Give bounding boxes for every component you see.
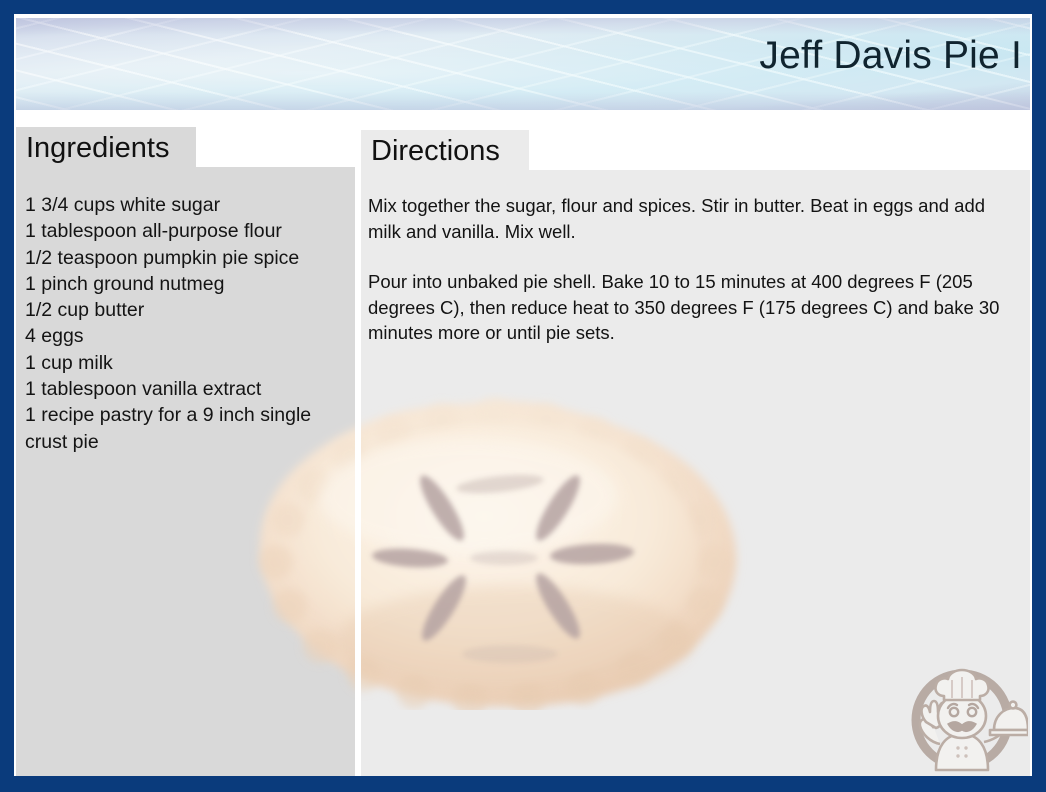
border-bottom bbox=[0, 776, 1046, 792]
directions-paragraph: Pour into unbaked pie shell. Bake 10 to … bbox=[368, 269, 1013, 346]
ingredient-item: 1 recipe pastry for a 9 inch single crus… bbox=[25, 402, 355, 455]
border-top bbox=[0, 0, 1046, 14]
panel-divider bbox=[355, 110, 361, 776]
recipe-slide: Jeff Davis Pie I bbox=[0, 0, 1046, 792]
ingredient-item: 1/2 cup butter bbox=[25, 297, 355, 323]
ingredient-item: 1 tablespoon all-purpose flour bbox=[25, 218, 355, 244]
directions-heading: Directions bbox=[371, 137, 500, 166]
border-right bbox=[1032, 0, 1046, 792]
ingredient-item: 1/2 teaspoon pumpkin pie spice bbox=[25, 245, 355, 271]
directions-paragraph: Mix together the sugar, flour and spices… bbox=[368, 193, 1013, 244]
ingredient-item: 1 3/4 cups white sugar bbox=[25, 192, 355, 218]
chef-logo bbox=[896, 646, 1028, 778]
ingredients-list: 1 3/4 cups white sugar1 tablespoon all-p… bbox=[25, 192, 355, 455]
ingredient-item: 1 cup milk bbox=[25, 350, 355, 376]
ingredient-item: 4 eggs bbox=[25, 323, 355, 349]
border-left bbox=[0, 0, 14, 792]
ingredient-item: 1 tablespoon vanilla extract bbox=[25, 376, 355, 402]
ingredient-item: 1 pinch ground nutmeg bbox=[25, 271, 355, 297]
directions-text: Mix together the sugar, flour and spices… bbox=[368, 193, 1013, 346]
page-title: Jeff Davis Pie I bbox=[759, 36, 1022, 75]
ingredients-heading: Ingredients bbox=[26, 134, 170, 163]
